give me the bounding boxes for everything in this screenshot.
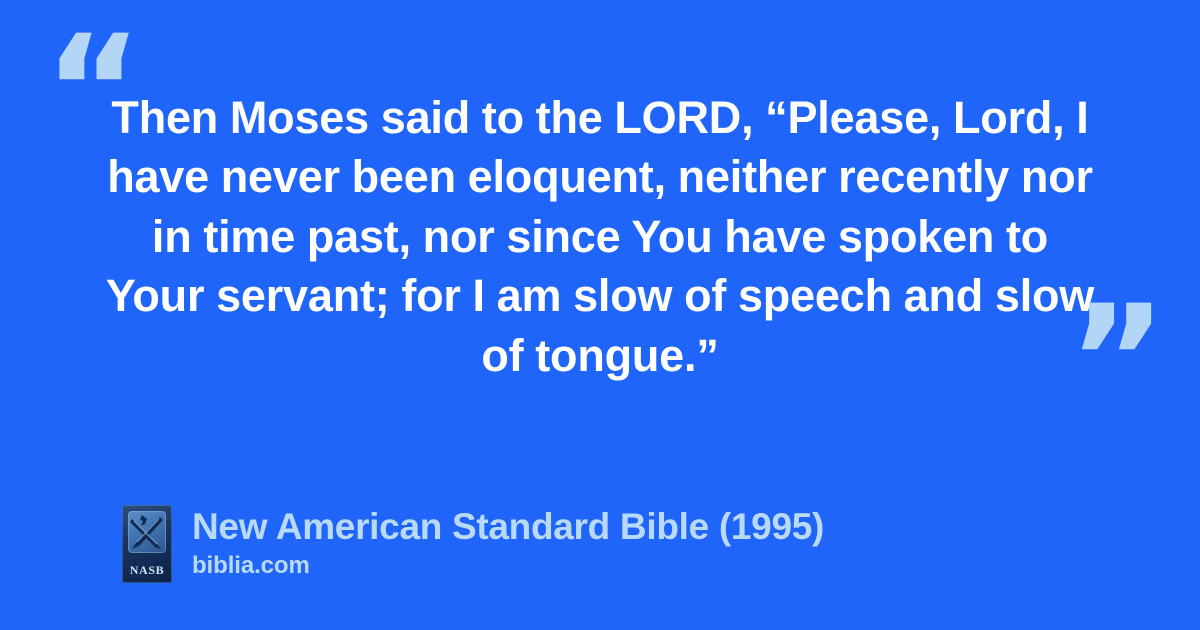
attribution: NASB New American Standard Bible (1995) … <box>122 505 824 583</box>
verse-text: Then Moses said to the LORD, “Please, Lo… <box>100 88 1100 385</box>
nasb-emblem-icon <box>128 511 166 553</box>
site-url-link[interactable]: biblia.com <box>192 553 824 579</box>
attribution-text: New American Standard Bible (1995) bibli… <box>192 505 824 579</box>
nasb-logo-icon: NASB <box>122 505 172 583</box>
nasb-logo-caption: NASB <box>122 563 172 578</box>
close-quote-icon: ” <box>1068 286 1167 436</box>
verse-card: “ Then Moses said to the LORD, “Please, … <box>0 0 1200 630</box>
bible-version-label: New American Standard Bible (1995) <box>192 507 824 548</box>
